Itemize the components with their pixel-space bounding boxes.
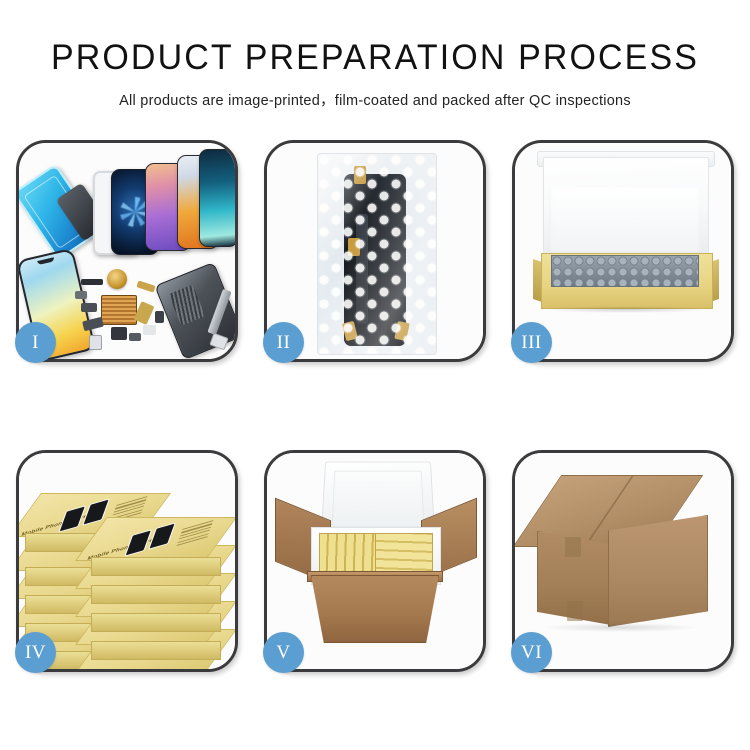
stacked-boxes-illustration: Mobile Phone Spare Parts xyxy=(19,453,235,669)
foam-lined-box-illustration xyxy=(515,143,731,359)
phones-and-parts-illustration xyxy=(19,143,235,359)
step-6-image xyxy=(515,453,731,669)
bubble-wrap-bag xyxy=(317,153,437,355)
step-badge-6: VI xyxy=(511,632,552,673)
process-steps-grid: I II xyxy=(16,140,734,672)
process-step-panel-2: II xyxy=(264,140,486,362)
gray-bubble-wrap-layer xyxy=(551,255,699,287)
step-badge-2: II xyxy=(263,322,304,363)
spare-part xyxy=(89,335,102,350)
spare-part xyxy=(75,291,87,299)
drop-shadow xyxy=(545,306,707,313)
process-step-panel-6: VI xyxy=(512,450,734,672)
step-badge-4: IV xyxy=(15,632,56,673)
sealed-carton-illustration xyxy=(515,453,731,669)
box-stack: Mobile Phone Spare Parts xyxy=(25,471,231,661)
box-front-face xyxy=(91,557,221,576)
copper-coil-part xyxy=(107,269,127,289)
product-preparation-process-page: PRODUCT PREPARATION PROCESS All products… xyxy=(0,0,750,750)
carton-right-face xyxy=(608,515,708,627)
page-title: PRODUCT PREPARATION PROCESS xyxy=(11,40,739,77)
carton-tape-patch xyxy=(565,537,581,557)
step-1-image xyxy=(19,143,235,359)
step-3-image xyxy=(515,143,731,359)
styrofoam-carton-illustration xyxy=(267,453,483,669)
bubble-wrap-illustration xyxy=(267,143,483,359)
phone-teal-gradient xyxy=(199,149,235,247)
carton-tape-patch xyxy=(567,601,583,621)
spare-part xyxy=(129,333,141,341)
ic-chip-part xyxy=(101,295,137,325)
step-2-image xyxy=(267,143,483,359)
step-5-image xyxy=(267,453,483,669)
page-header: PRODUCT PREPARATION PROCESS All products… xyxy=(0,0,750,110)
product-thumbnail xyxy=(124,529,152,556)
process-step-panel-4: Mobile Phone Spare Parts xyxy=(16,450,238,672)
drop-shadow xyxy=(543,623,699,632)
product-thumbnail xyxy=(58,505,86,532)
box-front-face xyxy=(91,613,221,632)
step-4-image: Mobile Phone Spare Parts xyxy=(19,453,235,669)
carton-body xyxy=(311,575,439,643)
step-badge-3: III xyxy=(511,322,552,363)
step-badge-5: V xyxy=(263,632,304,673)
spare-part xyxy=(155,311,164,323)
process-step-panel-3: III xyxy=(512,140,734,362)
plastic-sheen xyxy=(318,154,436,354)
process-step-panel-1: I xyxy=(16,140,238,362)
box-front-face xyxy=(91,585,221,604)
spare-part xyxy=(81,279,103,285)
box-product-thumbnails xyxy=(124,522,176,556)
box-spec-lines xyxy=(176,520,214,548)
box-front-face xyxy=(91,641,221,660)
white-foam-sheet xyxy=(549,187,701,255)
spare-part xyxy=(111,327,127,340)
spare-part xyxy=(81,303,97,312)
step-badge-1: I xyxy=(15,322,56,363)
spare-part xyxy=(143,325,156,335)
process-step-panel-5: V xyxy=(264,450,486,672)
spare-part xyxy=(136,280,155,292)
page-subtitle: All products are image-printed，film-coat… xyxy=(0,89,750,110)
product-thumbnail xyxy=(148,522,176,549)
